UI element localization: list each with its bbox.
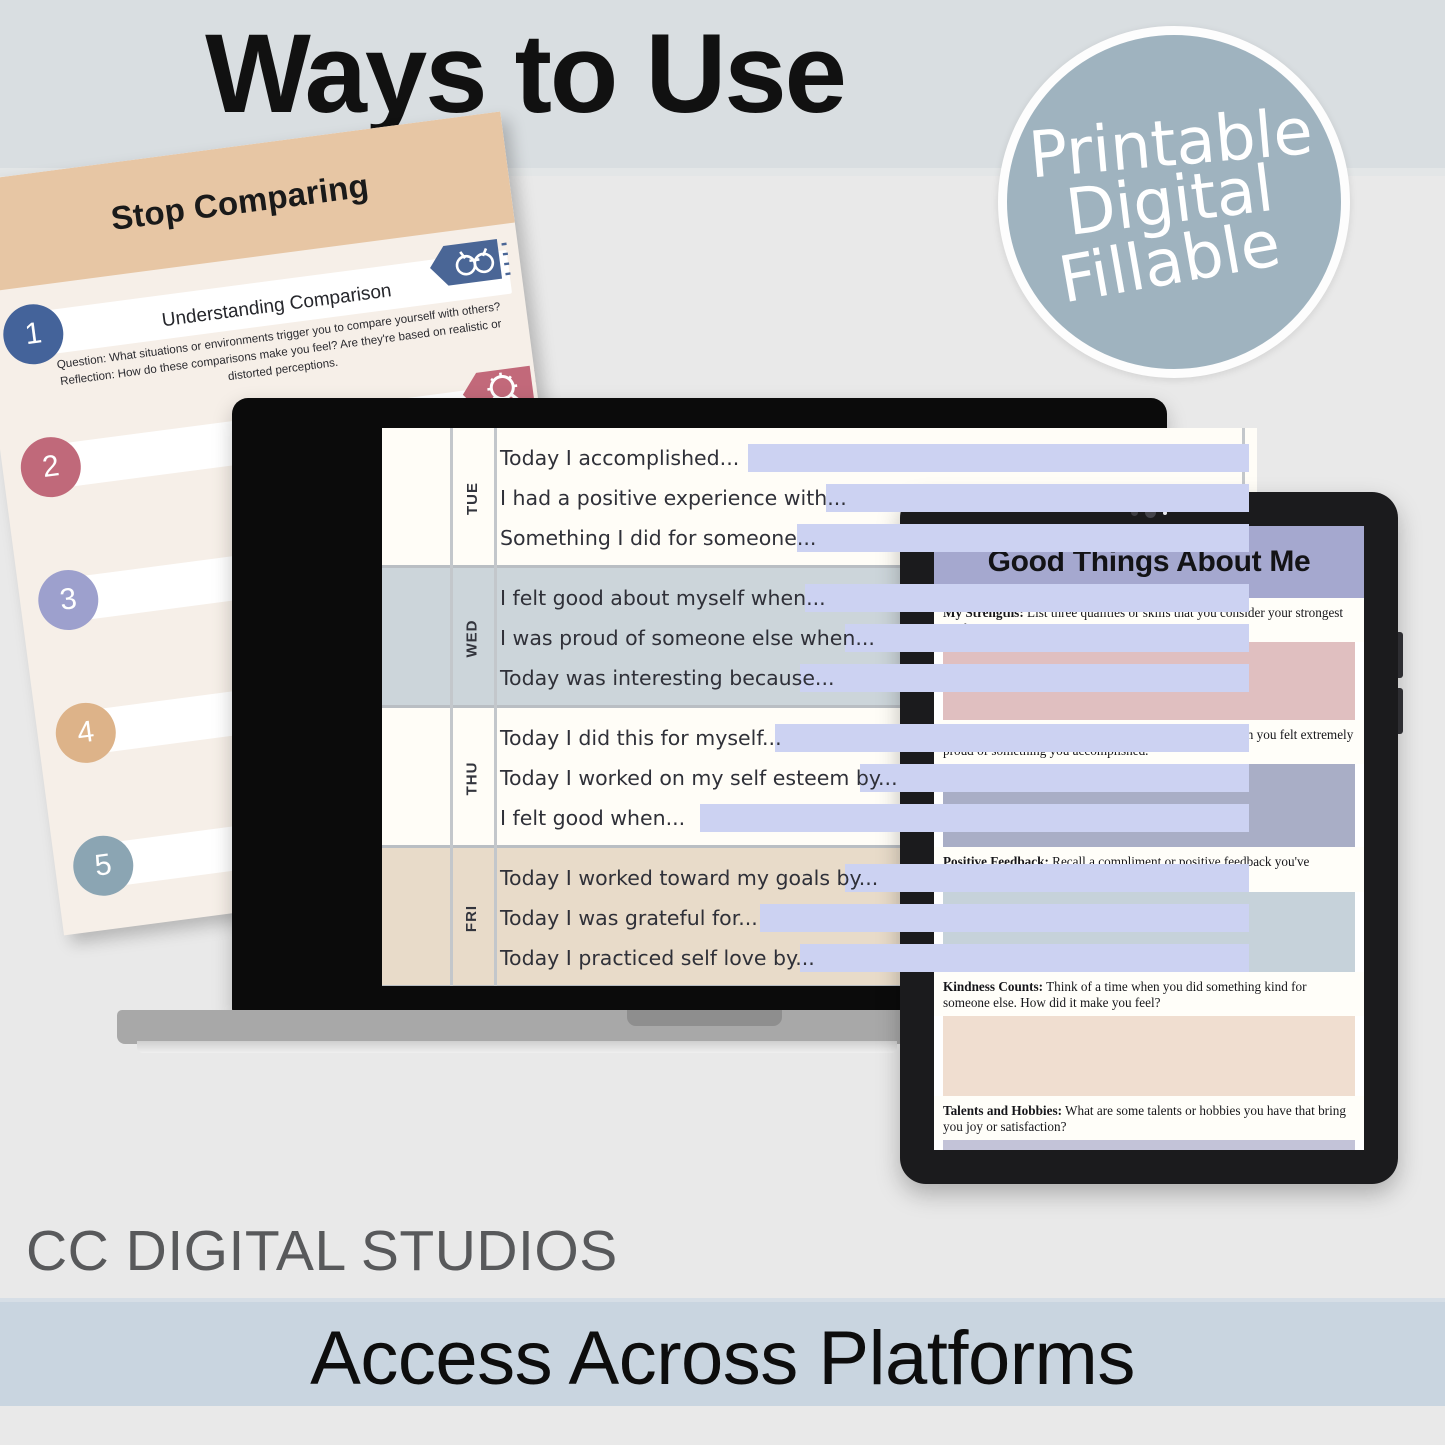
- journal-column-divider: [450, 428, 453, 986]
- laptop-base-shadow: [137, 1041, 897, 1053]
- journal-prompt: Today I accomplished...: [500, 438, 1243, 478]
- journal-answer-field[interactable]: [826, 484, 1249, 512]
- volume-down-button[interactable]: [1398, 688, 1403, 734]
- journal-prompt-text: Today was interesting because...: [500, 666, 835, 690]
- brand-name: CC DIGITAL STUDIOS: [26, 1218, 618, 1284]
- journal-answer-field[interactable]: [845, 624, 1249, 652]
- tablet-answer-field[interactable]: [943, 1140, 1355, 1150]
- journal-day-label: FRI: [450, 848, 494, 986]
- journal-answer-field[interactable]: [800, 664, 1249, 692]
- journal-answer-field[interactable]: [748, 444, 1249, 472]
- journal-day-text: TUE: [464, 482, 481, 515]
- journal-row: TUEToday I accomplished...I had a positi…: [382, 428, 1257, 568]
- journal-day-text: THU: [463, 761, 480, 795]
- journal-answer-field[interactable]: [797, 524, 1249, 552]
- tablet-section-label-bold: Talents and Hobbies:: [943, 1103, 1062, 1118]
- tablet-worksheet-section: Kindness Counts: Think of a time when yo…: [934, 972, 1364, 1096]
- journal-answer-field[interactable]: [860, 764, 1249, 792]
- badge-text-group: Printable Digital Fillable: [983, 11, 1365, 393]
- journal-prompt-text: I was proud of someone else when...: [500, 626, 875, 650]
- tablet-screen: Good Things About Me My Strengths: List …: [934, 526, 1364, 1150]
- tablet-answer-field[interactable]: [943, 1016, 1355, 1096]
- journal-prompt-text: I felt good about myself when...: [500, 586, 826, 610]
- laptop-mockup: TUEToday I accomplished...I had a positi…: [112, 398, 922, 1058]
- journal-answer-field[interactable]: [760, 904, 1249, 932]
- journal-row: WEDI felt good about myself when...I was…: [382, 568, 1257, 708]
- journal-prompt-text: Today I worked on my self esteem by...: [500, 766, 898, 790]
- journal-prompt-text: Today I was grateful for...: [500, 906, 758, 930]
- tablet-worksheet-section: My Strengths: List three qualities or sk…: [934, 598, 1364, 720]
- tagline: Access Across Platforms: [0, 1315, 1445, 1402]
- journal-answer-field[interactable]: [845, 864, 1249, 892]
- journal-prompt-text: I had a positive experience with...: [500, 486, 847, 510]
- journal-prompt-list: I felt good about myself when...I was pr…: [500, 568, 1243, 708]
- poster-canvas: Ways to Use Printable Digital Fillable S…: [0, 0, 1445, 1445]
- journal-prompt-text: Today I practiced self love by...: [500, 946, 815, 970]
- tablet-worksheet-section: Talents and Hobbies: What are some talen…: [934, 1096, 1364, 1150]
- page-title: Ways to Use: [0, 12, 1050, 135]
- journal-day-label: THU: [450, 708, 494, 848]
- journal-day-label: WED: [450, 568, 494, 708]
- printed-worksheet-title: Stop Comparing: [109, 166, 371, 238]
- journal-prompt-text: Today I did this for myself...: [500, 726, 782, 750]
- printable-digital-fillable-badge: Printable Digital Fillable: [998, 26, 1350, 378]
- journal-answer-field[interactable]: [775, 724, 1249, 752]
- laptop-hinge-notch: [627, 1010, 782, 1026]
- binoculars-icon: [423, 231, 515, 294]
- journal-day-text: FRI: [463, 904, 480, 931]
- journal-answer-field[interactable]: [700, 804, 1249, 832]
- journal-prompt-list: Today I accomplished...I had a positive …: [500, 428, 1243, 568]
- journal-prompt-text: Something I did for someone...: [500, 526, 816, 550]
- volume-up-button[interactable]: [1398, 632, 1403, 678]
- tablet-section-label-bold: Kindness Counts:: [943, 979, 1043, 994]
- journal-prompt-list: Today I did this for myself...Today I wo…: [500, 708, 1243, 848]
- journal-prompt-text: Today I accomplished...: [500, 446, 739, 470]
- journal-row: THUToday I did this for myself...Today I…: [382, 708, 1257, 848]
- tablet-section-label: Kindness Counts: Think of a time when yo…: [934, 972, 1364, 1016]
- journal-row: FRIToday I worked toward my goals by...T…: [382, 848, 1257, 986]
- journal-day-label: TUE: [450, 428, 494, 568]
- journal-prompt-list: Today I worked toward my goals by...Toda…: [500, 848, 1243, 986]
- journal-prompt-text: I felt good when...: [500, 806, 685, 830]
- journal-answer-field[interactable]: [805, 584, 1249, 612]
- journal-answer-field[interactable]: [800, 944, 1249, 972]
- background-band-bottom: [0, 1406, 1445, 1445]
- tablet-section-label: Talents and Hobbies: What are some talen…: [934, 1096, 1364, 1140]
- journal-column-divider: [494, 428, 497, 986]
- journal-prompt-text: Today I worked toward my goals by...: [500, 866, 878, 890]
- journal-day-text: WED: [464, 619, 481, 657]
- laptop-base: [117, 1010, 907, 1044]
